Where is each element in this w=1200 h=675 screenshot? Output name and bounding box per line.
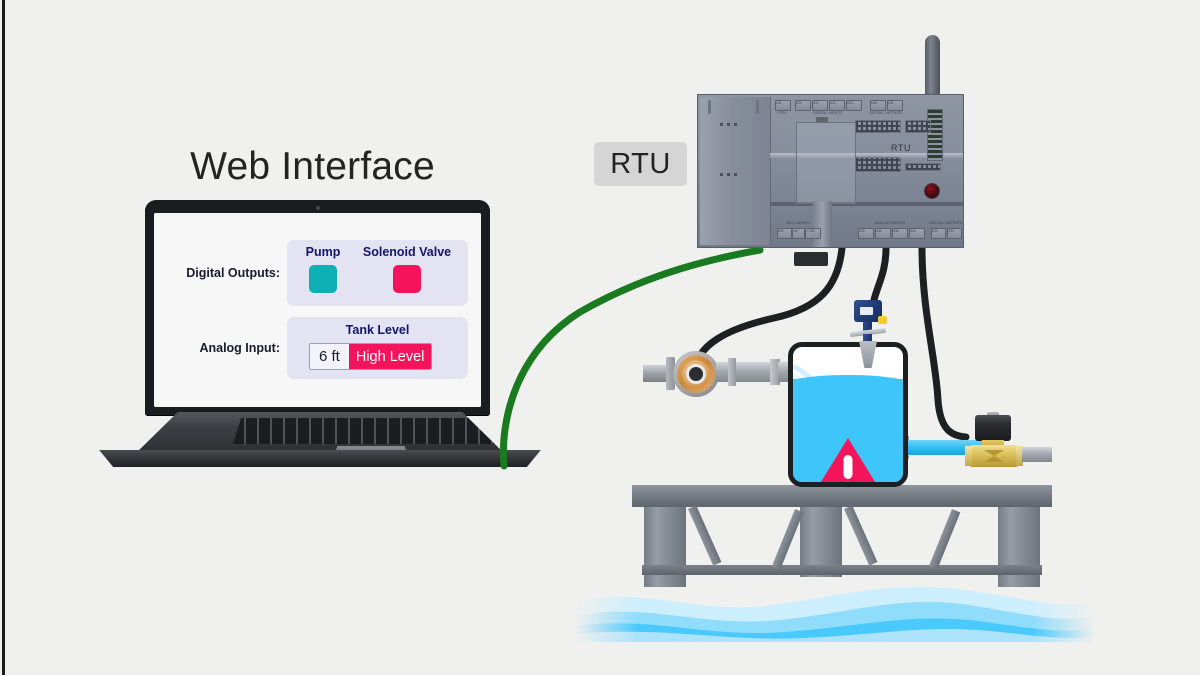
pump-discharge-pipe: [716, 362, 774, 382]
rtu-terminal-tag: 0V: [794, 229, 798, 233]
laptop: Digital Outputs: Pump Solenoid Valve: [85, 200, 555, 465]
tank-level-title: Tank Level: [287, 323, 468, 337]
radar-level-transmitter: [838, 296, 896, 376]
rtu-terminal-tag: X43: [910, 229, 916, 233]
digital-outputs-panel: Pump Solenoid Valve: [287, 240, 468, 306]
rtu-terminal-tag: X22: [830, 101, 836, 105]
rtu-terminal-tag: X30: [871, 101, 877, 105]
rtu-dots-upper: [720, 123, 738, 126]
transmitter-process-stub: [863, 334, 872, 342]
platform-brace: [844, 505, 877, 565]
tank-equipment-group: [640, 290, 1060, 500]
rtu-terminal-tag: X42: [893, 229, 899, 233]
tank-water-surface: [788, 375, 908, 384]
digital-output-solenoid-valve[interactable]: Solenoid Valve: [351, 245, 463, 293]
webcam-icon: [316, 206, 320, 210]
page-title: Web Interface: [140, 147, 485, 186]
left-edge-rule: [2, 0, 5, 675]
rtu-terminal-tag: X41: [876, 229, 882, 233]
digital-output-pump-indicator[interactable]: [309, 265, 337, 293]
rtu-status-led: [924, 183, 940, 199]
platform-brace: [929, 509, 961, 570]
pump-discharge-collar: [728, 358, 736, 386]
rtu-ethernet-port: [794, 252, 828, 266]
rtu-io-field-c: [855, 157, 901, 172]
web-ui: Digital Outputs: Pump Solenoid Valve: [154, 213, 481, 407]
rtu-terminal-tag: X33: [948, 229, 954, 233]
digital-output-solenoid-valve-indicator[interactable]: [393, 265, 421, 293]
tank-level-readout[interactable]: 6 ft High Level: [309, 343, 432, 370]
tank-level-value: 6 ft: [310, 344, 349, 369]
platform-column: [644, 507, 686, 587]
laptop-screen: Digital Outputs: Pump Solenoid Valve: [154, 213, 481, 407]
digital-outputs-row: Digital Outputs: Pump Solenoid Valve: [162, 240, 474, 306]
rtu-power-module: [700, 97, 771, 245]
tank-level-status-badge: High Level: [349, 344, 432, 369]
platform-brace: [688, 505, 721, 565]
rtu-terminal-tag: X21: [813, 101, 819, 105]
analog-input-panel: Tank Level 6 ft High Level: [287, 317, 468, 379]
rtu-top-group-label-ctrl: CTRL: [771, 111, 793, 115]
platform-tie-beam: [642, 565, 1042, 575]
rtu-device: RTU CTRL DIGITAL INPUTS DIGITAL OUTPUTS: [697, 28, 965, 248]
rtu-brand-label: RTU: [891, 143, 911, 153]
rtu-io-field-a: [855, 120, 901, 133]
laptop-lid: Digital Outputs: Pump Solenoid Valve: [145, 200, 490, 415]
rtu-io-field-b: [905, 120, 931, 133]
rtu-terminal-tag: X40: [859, 229, 865, 233]
digital-output-solenoid-valve-label: Solenoid Valve: [351, 245, 463, 259]
analog-input-label: Analog Input:: [162, 341, 287, 355]
rtu-body: RTU CTRL DIGITAL INPUTS DIGITAL OUTPUTS: [697, 94, 964, 248]
rtu-terminal-tag: X23: [847, 101, 853, 105]
transmitter-cable-gland: [878, 316, 887, 324]
solenoid-coil: [975, 415, 1011, 441]
platform-column: [998, 507, 1040, 587]
rtu-vent-grill: [927, 109, 943, 161]
rtu-top-group-label-digital-outputs: DIGITAL OUTPUTS: [862, 111, 910, 115]
centrifugal-pump: [640, 350, 810, 400]
rtu-terminal-tag: 24V: [778, 229, 784, 233]
transmitter-display: [860, 307, 873, 315]
solenoid-valve-body: [970, 445, 1018, 467]
digital-output-pump-label: Pump: [292, 245, 354, 259]
laptop-base: [85, 412, 555, 462]
high-level-alarm-icon: [809, 435, 887, 487]
analog-input-row: Analog Input: Tank Level 6 ft High Level: [162, 317, 474, 379]
laptop-base-front: [85, 450, 555, 467]
digital-output-pump[interactable]: Pump: [292, 245, 354, 293]
rtu-terminal-tag: X32: [932, 229, 938, 233]
sea-water: [575, 580, 1095, 642]
rtu-io-field-d: [905, 163, 941, 171]
rtu-terminal-tag: X31: [888, 101, 894, 105]
rtu-bottom-group-label-analog-inputs: ANALOG INPUTS: [856, 221, 924, 225]
tank-water-body: [793, 379, 903, 482]
radar-horn-antenna: [859, 341, 877, 368]
rtu-terminal-tag: X11: [776, 101, 781, 105]
pump-shaft-hub: [689, 367, 703, 381]
laptop-keyboard[interactable]: [233, 418, 505, 444]
laptop-deck: [133, 412, 507, 456]
rtu-terminal-tag: X20: [796, 101, 802, 105]
rtu-terminal-tag: CTRL: [807, 229, 815, 233]
rtu-center-plate: [796, 122, 856, 204]
rtu-top-group-label-digital-inputs: DIGITAL INPUTS: [795, 111, 860, 115]
rtu-bottom-group-label-digital-outputs: DIGITAL OUTPUTS: [924, 221, 968, 225]
digital-outputs-label: Digital Outputs:: [162, 266, 287, 280]
rtu-bottom-group-label-supply: REC SUPPLY: [774, 221, 822, 225]
antenna-icon: [925, 35, 940, 103]
platform-brace: [772, 509, 804, 570]
rtu-callout-label: RTU: [594, 142, 687, 186]
rtu-dots-lower: [720, 173, 738, 176]
solenoid-outlet-pipe: [1022, 447, 1052, 462]
diagram-canvas: Web Interface Digital Outputs: Pump: [0, 0, 1200, 675]
solenoid-valve: [940, 412, 1050, 470]
